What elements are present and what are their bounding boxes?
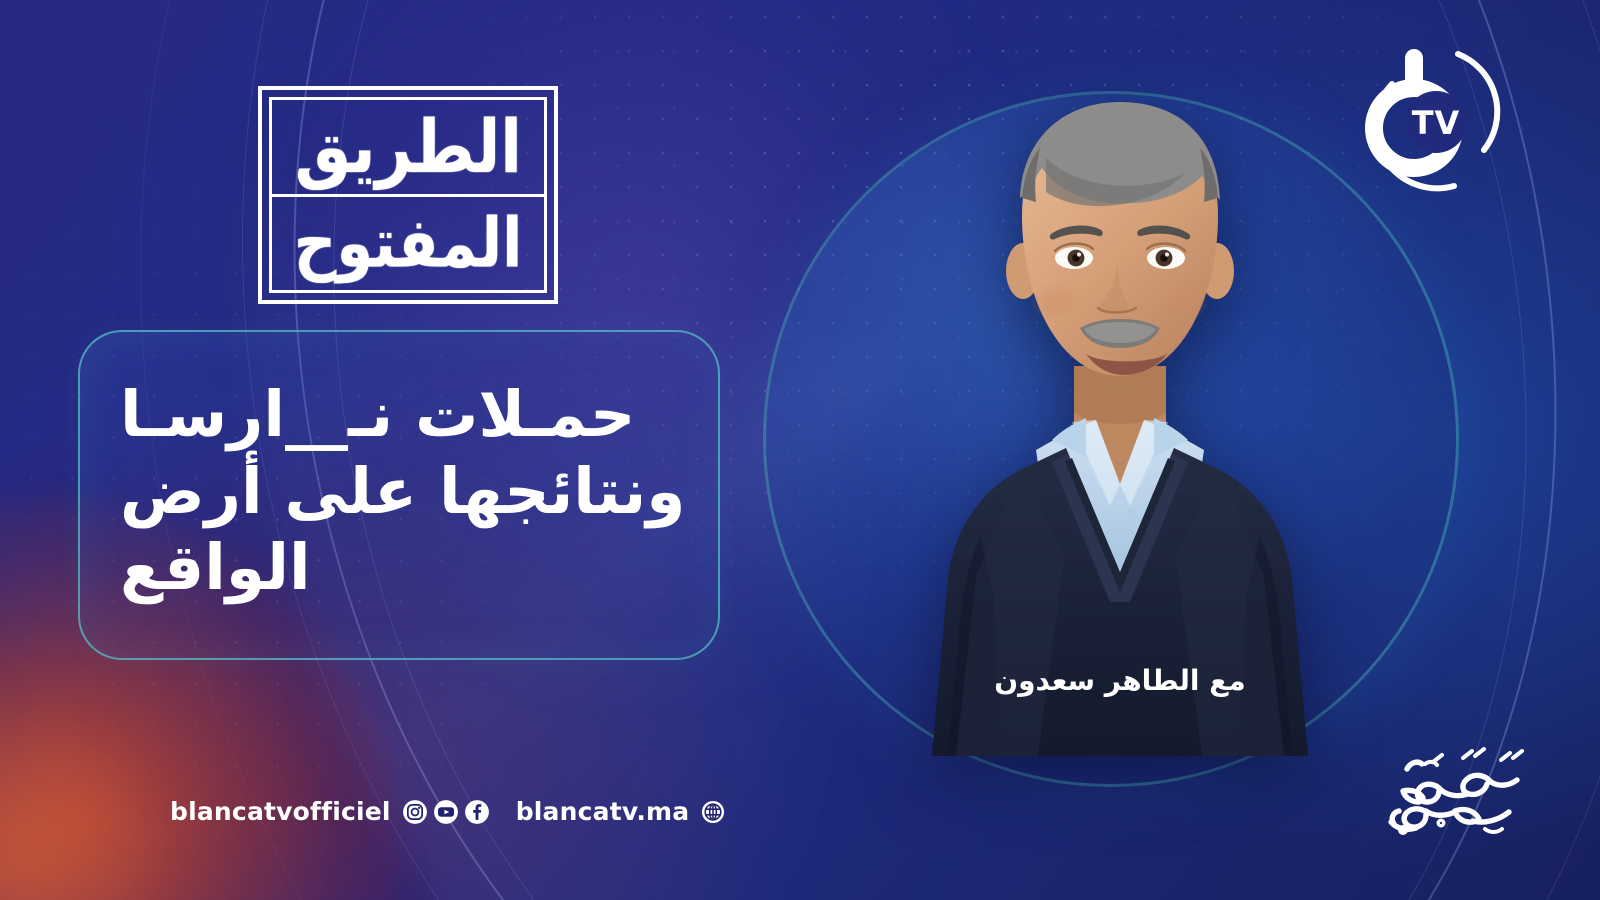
left-content-column: الطريق المفتوح حمـلات نـ__ارسـا ونتائجها…: [0, 0, 760, 900]
ramadan-kareem-calligraphy: [1367, 734, 1552, 852]
footer-bar: blancatv.ma: [170, 797, 726, 826]
headline-card: حمـلات نـ__ارسـا ونتائجها على أرض الواقع: [78, 330, 720, 660]
show-logo-text-2: المفتوح: [294, 209, 523, 277]
headline-line-3: الواقع: [120, 530, 311, 607]
presenter-credit: مع الطاهر سعدون: [935, 664, 1305, 697]
presenter-photo: [860, 66, 1380, 756]
website-url: blancatv.ma: [516, 797, 690, 826]
social-handle: blancatvofficiel: [170, 797, 391, 826]
globe-icon: [700, 799, 726, 825]
show-logo-text-1: الطريق: [294, 110, 521, 183]
presenter-illustration: [860, 66, 1380, 756]
social-group[interactable]: blancatvofficiel: [170, 797, 490, 826]
website-group[interactable]: blancatv.ma: [516, 797, 727, 826]
btv-logo-mark: TV: [1358, 44, 1508, 196]
btv-logo[interactable]: TV: [1358, 44, 1508, 196]
ramadan-kareem-mark: [1367, 734, 1552, 852]
facebook-icon[interactable]: [464, 799, 490, 825]
show-logo-line-1: الطريق: [272, 100, 544, 194]
show-logo-line-2: المفتوح: [272, 197, 544, 291]
instagram-icon[interactable]: [402, 799, 428, 825]
social-icons: [402, 799, 490, 825]
youtube-icon[interactable]: [433, 799, 459, 825]
btv-logo-tv-text: TV: [1412, 104, 1461, 142]
broadcast-promo-graphic: الطريق المفتوح حمـلات نـ__ارسـا ونتائجها…: [0, 0, 1600, 900]
headline-line-2: ونتائجها على أرض: [120, 454, 685, 531]
headline-line-1: حمـلات نـ__ارسـا: [120, 377, 635, 454]
show-logo: الطريق المفتوح: [258, 86, 558, 304]
